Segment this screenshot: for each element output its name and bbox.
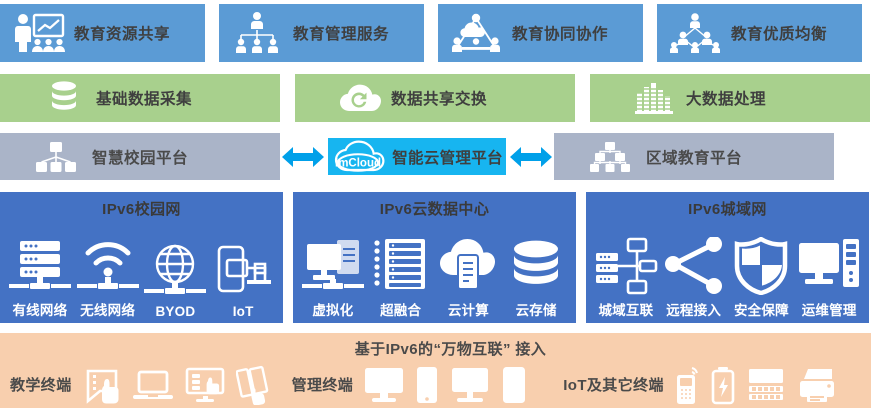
server-unit-icon[interactable] bbox=[746, 366, 786, 404]
server-rack-icon bbox=[8, 233, 72, 295]
shield-icon bbox=[729, 233, 793, 295]
ipv6-panel-metro-network: IPv6城域网 bbox=[586, 192, 869, 323]
service-card-education-resource-sharing[interactable]: 教育资源共享 bbox=[0, 4, 205, 62]
database-stack-icon bbox=[42, 79, 86, 117]
terminals-row: 基于IPv6的“万物互联” 接入 教学终端 bbox=[0, 333, 871, 408]
terminal-group-iot-other: IoT及其它终端 bbox=[563, 365, 838, 405]
tablet-hand-icon[interactable] bbox=[82, 365, 122, 405]
desktop-monitor-icon[interactable] bbox=[363, 366, 405, 404]
people-network-icon bbox=[665, 10, 725, 56]
ipv6-item-label: 有线网络 bbox=[12, 299, 67, 319]
org-chart-people-icon bbox=[227, 10, 287, 56]
data-card-label: 基础数据采集 bbox=[96, 87, 192, 109]
double-arrow-icon bbox=[282, 144, 324, 170]
imcloud-logo-icon: ImCloud bbox=[331, 140, 389, 174]
double-arrow-left bbox=[280, 133, 326, 180]
terminal-group-label: 教学终端 bbox=[10, 374, 72, 395]
terminal-group-icons bbox=[72, 365, 274, 405]
region-blocks-icon bbox=[588, 140, 632, 174]
ipv6-item-hyperconverged[interactable]: 超融合 bbox=[367, 233, 435, 319]
platform-card-label: 区域教育平台 bbox=[646, 146, 742, 168]
ipv6-item-byod[interactable]: BYOD bbox=[142, 238, 210, 319]
infographic-root: 教育资源共享 教育管理服务 bbox=[0, 0, 871, 408]
virtualization-monitor-icon bbox=[301, 233, 365, 295]
service-card-education-collaboration[interactable]: 教育协同协作 bbox=[438, 4, 643, 62]
platform-card-label: 智能云管理平台 bbox=[392, 146, 503, 168]
platform-card-imcloud[interactable]: ImCloud 智能云管理平台 bbox=[326, 136, 508, 177]
panel-items: 有线网络 bbox=[0, 219, 283, 323]
cloud-storage-disk-icon bbox=[504, 233, 568, 295]
ipv6-item-label: 云存储 bbox=[516, 299, 557, 319]
ipv6-item-security[interactable]: 安全保障 bbox=[728, 233, 796, 319]
terminal-group-management: 管理终端 bbox=[292, 366, 528, 404]
data-card-label: 大数据处理 bbox=[686, 87, 766, 109]
cloud-collaboration-icon bbox=[446, 10, 506, 56]
remote-share-icon bbox=[662, 233, 726, 295]
terminal-group-icons bbox=[353, 366, 527, 404]
ipv6-item-label: 虚拟化 bbox=[312, 299, 353, 319]
power-battery-icon[interactable] bbox=[710, 365, 736, 405]
terminal-group-icons bbox=[664, 365, 838, 405]
interactive-display-icon[interactable] bbox=[184, 366, 226, 404]
ipv6-item-label: 运维管理 bbox=[802, 299, 857, 319]
ipv6-item-label: 安全保障 bbox=[734, 299, 789, 319]
service-card-label: 教育优质均衡 bbox=[731, 22, 827, 44]
service-card-education-quality-balance[interactable]: 教育优质均衡 bbox=[657, 4, 862, 62]
wifi-icon bbox=[76, 233, 140, 295]
platform-card-label: 智慧校园平台 bbox=[92, 146, 188, 168]
service-card-label: 教育管理服务 bbox=[293, 22, 389, 44]
ipv6-item-label: 城域互联 bbox=[598, 299, 653, 319]
iot-device-icon bbox=[211, 238, 275, 300]
svg-text:ImCloud: ImCloud bbox=[335, 157, 381, 169]
monitor-icon[interactable] bbox=[449, 366, 491, 404]
terminal-group-teaching: 教学终端 bbox=[10, 365, 274, 405]
ipv6-item-label: 远程接入 bbox=[666, 299, 721, 319]
data-row: 基础数据采集 数据共享交换 bbox=[0, 74, 871, 122]
ipv6-item-metro-interconnect[interactable]: 城域互联 bbox=[592, 233, 660, 319]
terminal-group-label: IoT及其它终端 bbox=[563, 374, 664, 395]
feature-phone-icon[interactable] bbox=[674, 365, 700, 405]
service-card-education-management-service[interactable]: 教育管理服务 bbox=[219, 4, 424, 62]
data-card-label: 数据共享交换 bbox=[391, 87, 487, 109]
ipv6-item-remote-access[interactable]: 远程接入 bbox=[660, 233, 728, 319]
ipv6-row: IPv6校园网 bbox=[0, 192, 871, 323]
terminals-title: 基于IPv6的“万物互联” 接入 bbox=[0, 338, 871, 359]
panel-title: IPv6云数据中心 bbox=[380, 198, 489, 219]
ipv6-panel-campus-network: IPv6校园网 bbox=[0, 192, 283, 323]
laptop-icon[interactable] bbox=[132, 367, 174, 403]
hyperconverged-rack-icon bbox=[369, 233, 433, 295]
panel-items: 虚拟化 bbox=[293, 219, 576, 323]
documents-hand-icon[interactable] bbox=[236, 365, 274, 405]
tablet-icon[interactable] bbox=[415, 366, 439, 404]
ipv6-item-wireless-network[interactable]: 无线网络 bbox=[74, 233, 142, 319]
terminal-group-label: 管理终端 bbox=[292, 374, 354, 395]
ipv6-item-label: BYOD bbox=[155, 304, 195, 319]
service-card-label: 教育资源共享 bbox=[74, 22, 170, 44]
panel-title: IPv6城域网 bbox=[688, 198, 767, 219]
cloud-compute-icon bbox=[436, 233, 500, 295]
ipv6-item-label: 超融合 bbox=[380, 299, 421, 319]
service-card-label: 教育协同协作 bbox=[512, 22, 608, 44]
platform-card-smart-campus[interactable]: 智慧校园平台 bbox=[0, 133, 280, 180]
metro-interconnect-icon bbox=[594, 233, 658, 295]
ipv6-item-wired-network[interactable]: 有线网络 bbox=[6, 233, 74, 319]
ipv6-panel-cloud-data-center: IPv6云数据中心 bbox=[293, 192, 576, 323]
ipv6-item-label: 无线网络 bbox=[80, 299, 135, 319]
services-row: 教育资源共享 教育管理服务 bbox=[0, 4, 871, 62]
double-arrow-icon bbox=[510, 144, 552, 170]
pad-icon[interactable] bbox=[501, 366, 527, 404]
big-data-bars-icon bbox=[632, 79, 676, 117]
cloud-sync-icon bbox=[337, 79, 381, 117]
ops-monitor-icon bbox=[797, 233, 861, 295]
ipv6-item-label: IoT bbox=[233, 304, 254, 319]
ipv6-item-label: 云计算 bbox=[448, 299, 489, 319]
panel-items: 城域互联 bbox=[586, 219, 869, 323]
platform-card-regional-education[interactable]: 区域教育平台 bbox=[554, 133, 834, 180]
platform-row: 智慧校园平台 ImCloud 智能云管理平台 bbox=[0, 133, 871, 180]
panel-title: IPv6校园网 bbox=[102, 198, 181, 219]
terminals-groups: 教学终端 bbox=[0, 361, 871, 408]
globe-icon bbox=[143, 238, 207, 300]
data-card-big-data-processing[interactable]: 大数据处理 bbox=[590, 74, 870, 122]
data-card-basic-data-collection[interactable]: 基础数据采集 bbox=[0, 74, 280, 122]
campus-tree-icon bbox=[34, 140, 78, 174]
ipv6-item-ops-management[interactable]: 运维管理 bbox=[795, 233, 863, 319]
teacher-presentation-icon bbox=[8, 10, 68, 56]
printer-icon[interactable] bbox=[796, 366, 838, 404]
double-arrow-right bbox=[508, 133, 554, 180]
ipv6-item-cloud-computing[interactable]: 云计算 bbox=[435, 233, 503, 319]
data-card-data-sharing-exchange[interactable]: 数据共享交换 bbox=[295, 74, 575, 122]
ipv6-item-cloud-storage[interactable]: 云存储 bbox=[502, 233, 570, 319]
ipv6-item-virtualization[interactable]: 虚拟化 bbox=[299, 233, 367, 319]
ipv6-item-iot[interactable]: IoT bbox=[209, 238, 277, 319]
